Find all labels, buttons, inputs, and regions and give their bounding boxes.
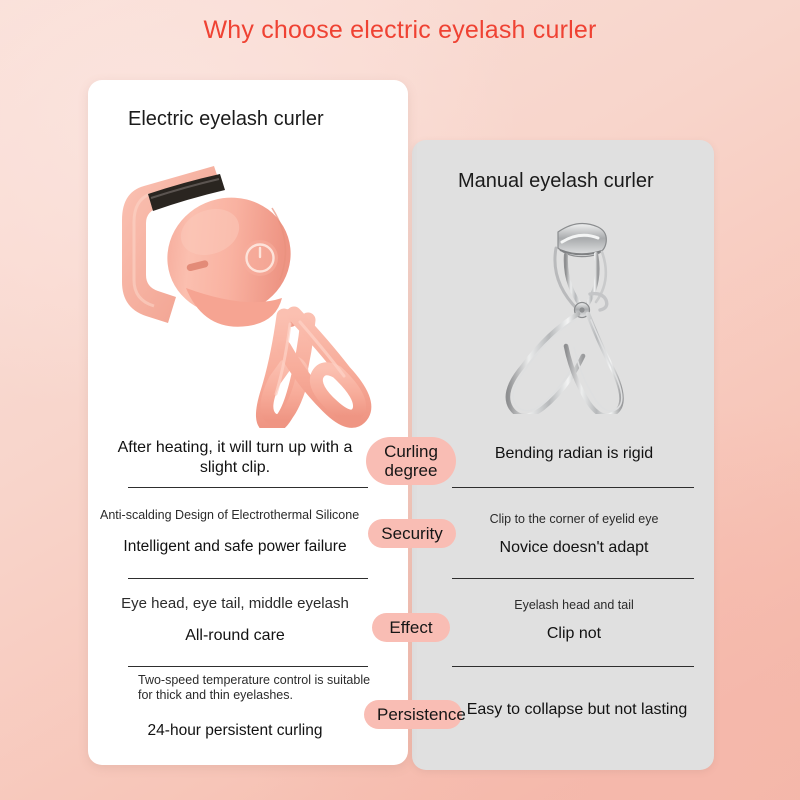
electric-eyelash-curler-image (94, 148, 402, 428)
infographic-page: Why choose electric eyelash curler Manua… (0, 0, 800, 800)
electric-curler-card: Electric eyelash curler (88, 80, 408, 765)
manual-eyelash-curler-image (470, 202, 660, 414)
page-title: Why choose electric eyelash curler (0, 16, 800, 45)
manual-card-title: Manual eyelash curler (458, 170, 654, 193)
manual-curler-card: Manual eyelash curler (412, 140, 714, 770)
electric-card-title: Electric eyelash curler (128, 108, 324, 131)
